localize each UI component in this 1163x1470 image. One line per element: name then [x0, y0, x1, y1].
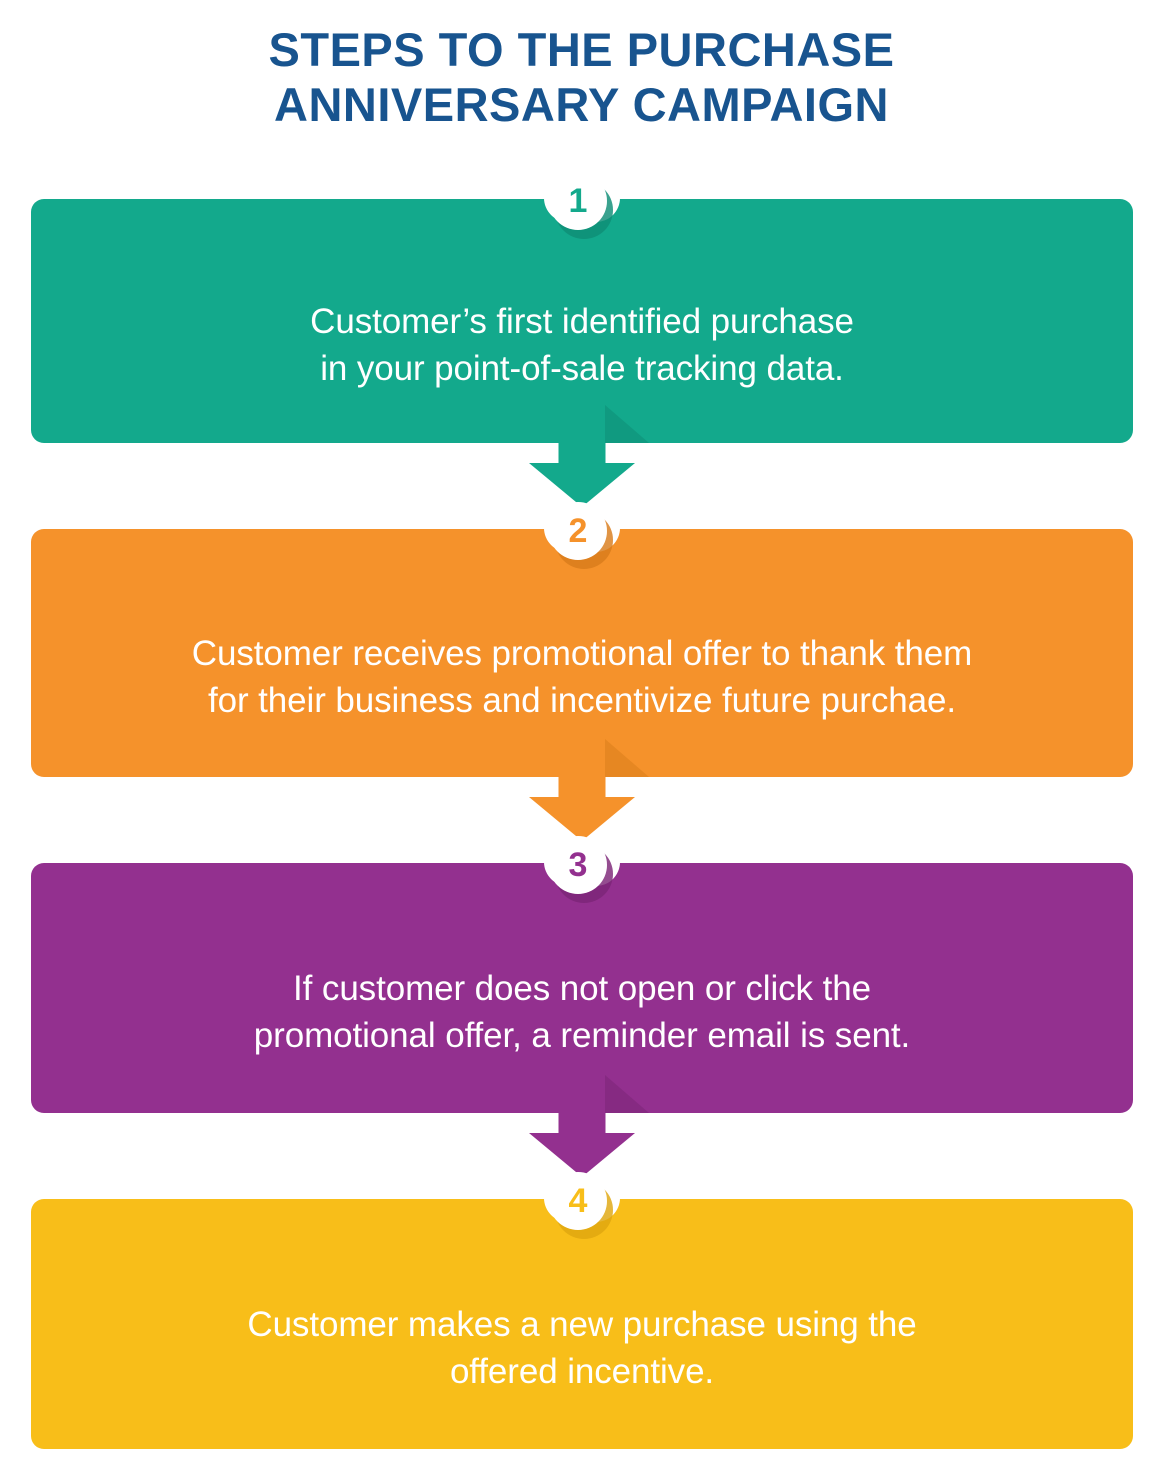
step-panel-2: Customer receives promotional offer to t… [31, 529, 1133, 777]
page-title-line-1: STEPS TO THE PURCHASE [90, 22, 1073, 77]
page-title: STEPS TO THE PURCHASE ANNIVERSARY CAMPAI… [0, 22, 1163, 132]
step-1: Customer’s first identified purchase in … [31, 199, 1133, 443]
arrow-head-3 [529, 1133, 635, 1177]
page-title-line-2: ANNIVERSARY CAMPAIGN [90, 77, 1073, 132]
arrow-gap-3 [31, 1175, 1133, 1199]
arrow-shaft-2 [559, 777, 606, 799]
step-panel-4: Customer makes a new purchase using the … [31, 1199, 1133, 1449]
arrow-head-2 [529, 797, 635, 841]
step-text-3: If customer does not open or click the p… [254, 965, 910, 1059]
arrow-gap-2 [31, 839, 1133, 863]
steps-flow: Customer’s first identified purchase in … [31, 199, 1133, 1449]
arrow-shaft-3 [559, 1113, 606, 1135]
step-4: Customer makes a new purchase using the … [31, 1199, 1133, 1449]
arrow-down-icon-1 [31, 443, 1133, 505]
step-text-4: Customer makes a new purchase using the … [247, 1301, 916, 1395]
badge-notch-1 [544, 198, 620, 222]
step-text-1: Customer’s first identified purchase in … [310, 298, 854, 392]
arrow-down-icon-2 [31, 777, 1133, 839]
panel-fold-shadow-1 [605, 405, 649, 443]
badge-notch-3 [544, 862, 620, 886]
step-3: If customer does not open or click the p… [31, 863, 1133, 1113]
arrow-down-icon-3 [31, 1113, 1133, 1175]
purchase-anniversary-infographic: STEPS TO THE PURCHASE ANNIVERSARY CAMPAI… [0, 0, 1163, 1470]
step-panel-1: Customer’s first identified purchase in … [31, 199, 1133, 443]
step-2: Customer receives promotional offer to t… [31, 529, 1133, 777]
badge-notch-2 [544, 528, 620, 552]
step-panel-3: If customer does not open or click the p… [31, 863, 1133, 1113]
panel-fold-shadow-2 [605, 739, 649, 777]
badge-notch-4 [544, 1198, 620, 1222]
arrow-gap-1 [31, 505, 1133, 529]
arrow-head-1 [529, 463, 635, 507]
arrow-shaft-1 [559, 443, 606, 465]
step-text-2: Customer receives promotional offer to t… [192, 630, 972, 724]
panel-fold-shadow-3 [605, 1075, 649, 1113]
